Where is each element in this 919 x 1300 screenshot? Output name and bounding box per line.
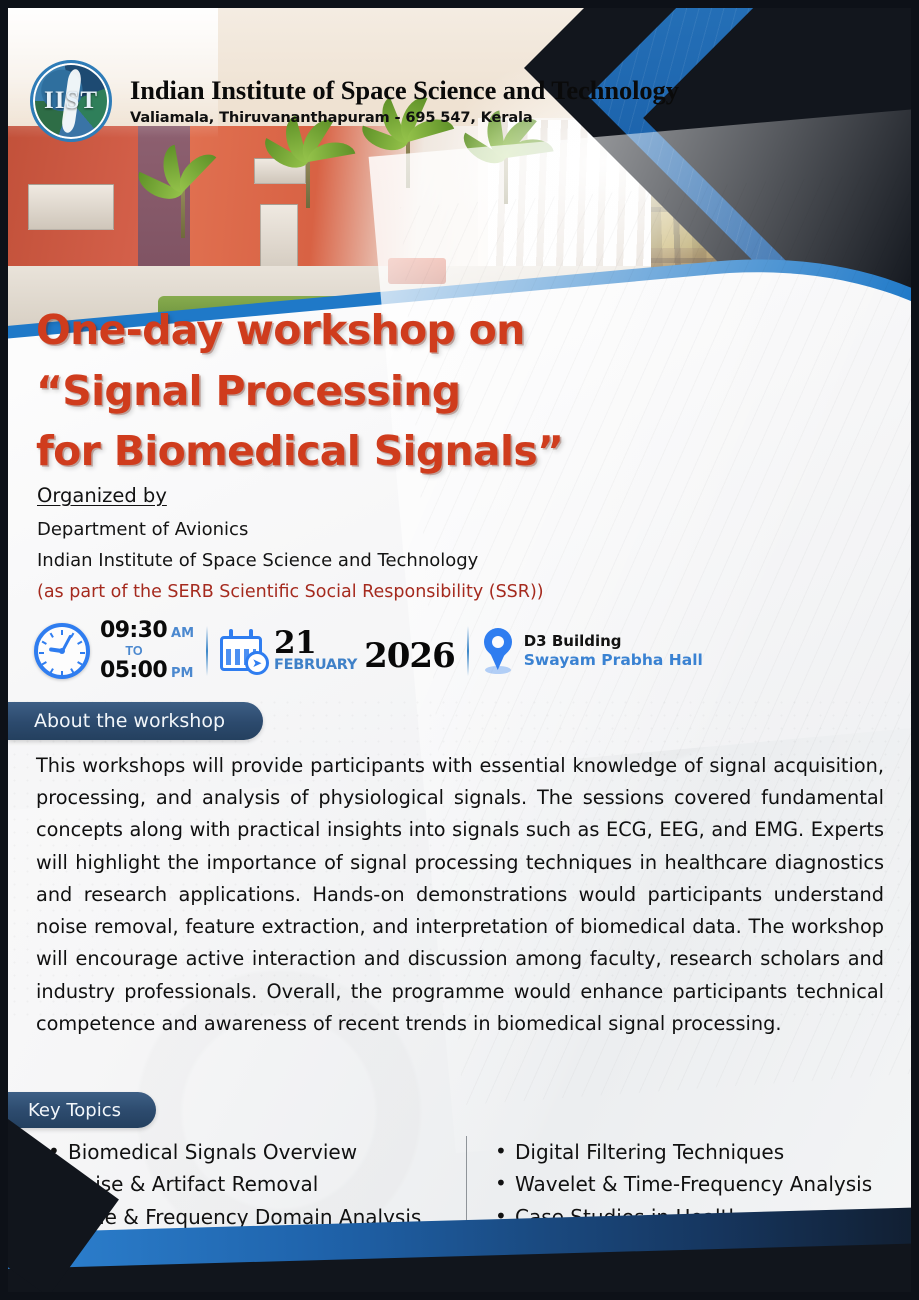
poster-page: IIST Indian Institute of Space Science a… [8,8,911,1292]
start-time-row: 09:30 AM [100,620,194,642]
title-line-3: for Biomedical Signals” [36,421,716,482]
institute-header: IIST Indian Institute of Space Science a… [30,60,679,142]
serb-note: (as part of the SERB Scientific Social R… [37,577,657,607]
institute-name: Indian Institute of Space Science and Te… [130,76,679,106]
date-day-month: 21 FEBRUARY [274,629,357,672]
date-day: 21 [274,629,357,658]
iist-logo-icon: IIST [30,60,112,142]
date-info: ➤ 21 FEBRUARY 2026 [220,629,455,673]
venue-info: D3 Building Swayam Prabha Hall [481,628,703,674]
calendar-arrow-icon: ➤ [245,651,269,675]
end-meridiem: PM [171,667,193,680]
wall-vent [28,184,114,230]
list-item: Wavelet & Time-Frequency Analysis [495,1168,886,1200]
event-info-strip: 09:30 AM TO 05:00 PM ➤ [34,616,703,686]
venue-values: D3 Building Swayam Prabha Hall [524,632,703,670]
organizer-institute: Indian Institute of Space Science and Te… [37,545,657,576]
calendar-icon: ➤ [220,629,266,673]
list-item: Digital Filtering Techniques [495,1136,886,1168]
list-item: Biomedical Signals Overview [48,1136,466,1168]
end-time-row: 05:00 PM [100,660,194,682]
time-info: 09:30 AM TO 05:00 PM [34,620,194,683]
divider [206,626,208,676]
start-time: 09:30 [100,620,167,642]
date-year: 2026 [364,640,455,673]
organized-by-heading: Organized by [37,484,657,507]
topics-section-banner: Key Topics [8,1092,156,1128]
clock-icon [34,623,90,679]
topics-banner-label: Key Topics [28,1100,121,1121]
title-line-1: One-day workshop on [36,300,716,361]
about-section-banner: About the workshop [8,702,263,740]
title-line-2: “Signal Processing [36,361,716,422]
start-meridiem: AM [171,627,194,640]
date-month: FEBRUARY [274,658,357,673]
time-separator: TO [100,645,168,658]
organized-by-block: Organized by Department of Avionics Indi… [37,484,657,607]
institute-address: Valiamala, Thiruvananthapuram - 695 547,… [130,109,679,126]
institute-text: Indian Institute of Space Science and Te… [130,76,679,127]
location-pin-icon [481,628,515,674]
time-values: 09:30 AM TO 05:00 PM [100,620,194,683]
venue-hall: Swayam Prabha Hall [524,651,703,671]
page-title: One-day workshop on “Signal Processing f… [36,300,716,482]
logo-monogram: IIST [33,87,109,115]
organizer-department: Department of Avionics [37,514,657,545]
end-time: 05:00 [100,660,167,682]
workshop-poster: IIST Indian Institute of Space Science a… [0,0,919,1300]
divider [467,626,469,676]
about-banner-label: About the workshop [34,710,225,732]
date-values: 21 FEBRUARY 2026 [274,629,455,672]
about-paragraph: This workshops will provide participants… [36,750,884,1040]
venue-building: D3 Building [524,632,703,651]
